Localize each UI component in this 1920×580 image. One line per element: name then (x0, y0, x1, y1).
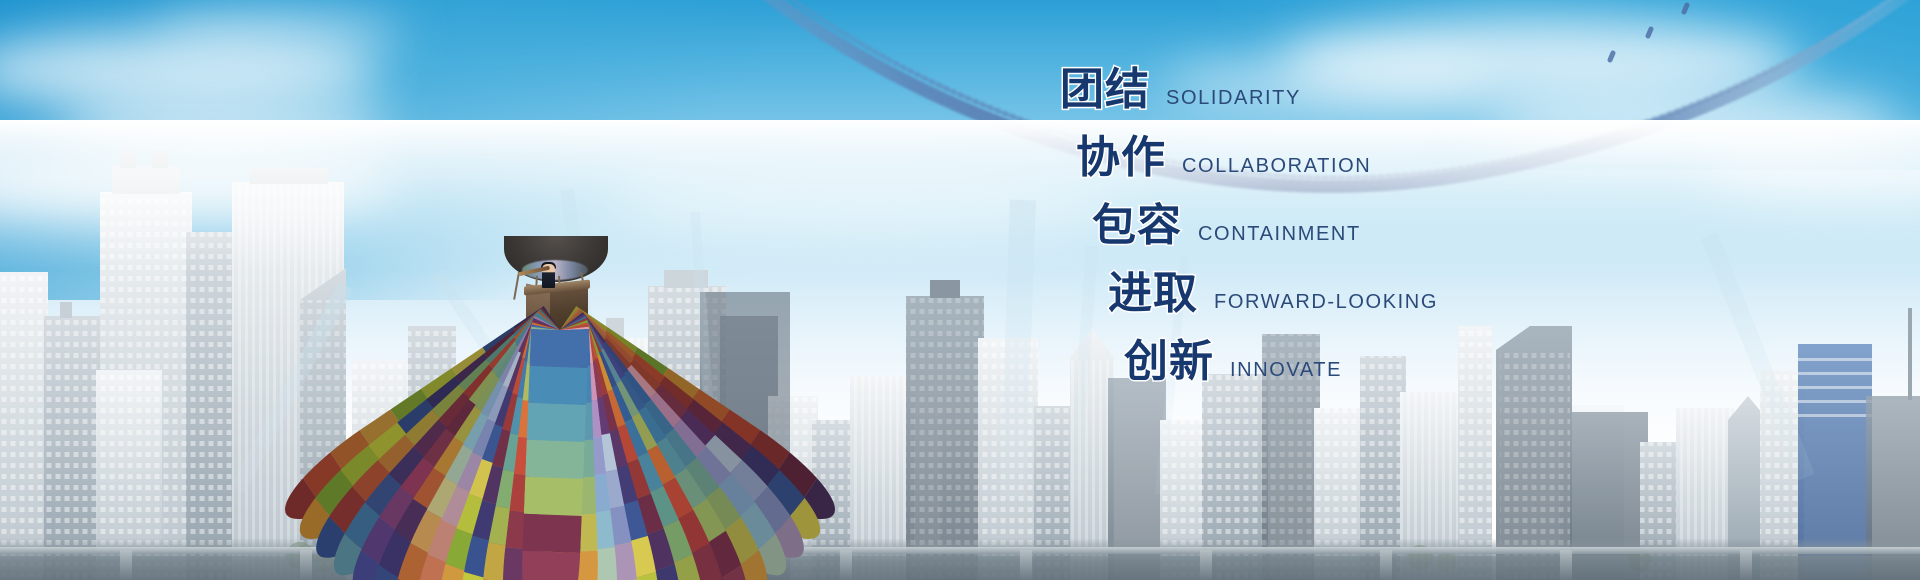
slogan-line: 团结 SOLIDARITY (1060, 68, 1301, 112)
slogan-cn: 进取 (1108, 272, 1198, 316)
corporate-culture-banner: 团结 SOLIDARITY 协作 COLLABORATION 包容 CONTAI… (0, 0, 1920, 580)
bridge-viaduct (0, 538, 1920, 580)
slogan-line: 进取 FORWARD-LOOKING (1108, 272, 1438, 316)
bridge-pier (1020, 550, 1032, 580)
slogan-en: INNOVATE (1230, 359, 1342, 382)
bridge-pier (300, 550, 312, 580)
slogan-cn: 团结 (1060, 68, 1150, 112)
slogan-en: SOLIDARITY (1166, 87, 1301, 110)
slogan-cn: 协作 (1076, 136, 1166, 180)
slogan-line: 包容 CONTAINMENT (1092, 204, 1361, 248)
bridge-pier (1380, 550, 1392, 580)
bridge-pier (120, 550, 132, 580)
bridge-pier (1200, 550, 1212, 580)
slogan-en: COLLABORATION (1182, 155, 1371, 178)
slogan-line: 创新 INNOVATE (1124, 340, 1342, 384)
balloon-gore (518, 329, 589, 580)
slogan-block: 团结 SOLIDARITY 协作 COLLABORATION 包容 CONTAI… (1060, 68, 1580, 428)
bridge-pier (1560, 550, 1572, 580)
slogan-cn: 包容 (1092, 204, 1182, 248)
bridge-deck (0, 547, 1920, 554)
bridge-pier (1740, 550, 1752, 580)
slogan-cn: 创新 (1124, 340, 1214, 384)
bridge-pier (840, 550, 852, 580)
slogan-line: 协作 COLLABORATION (1076, 136, 1371, 180)
slogan-en: CONTAINMENT (1198, 223, 1361, 246)
slogan-en: FORWARD-LOOKING (1214, 291, 1438, 314)
